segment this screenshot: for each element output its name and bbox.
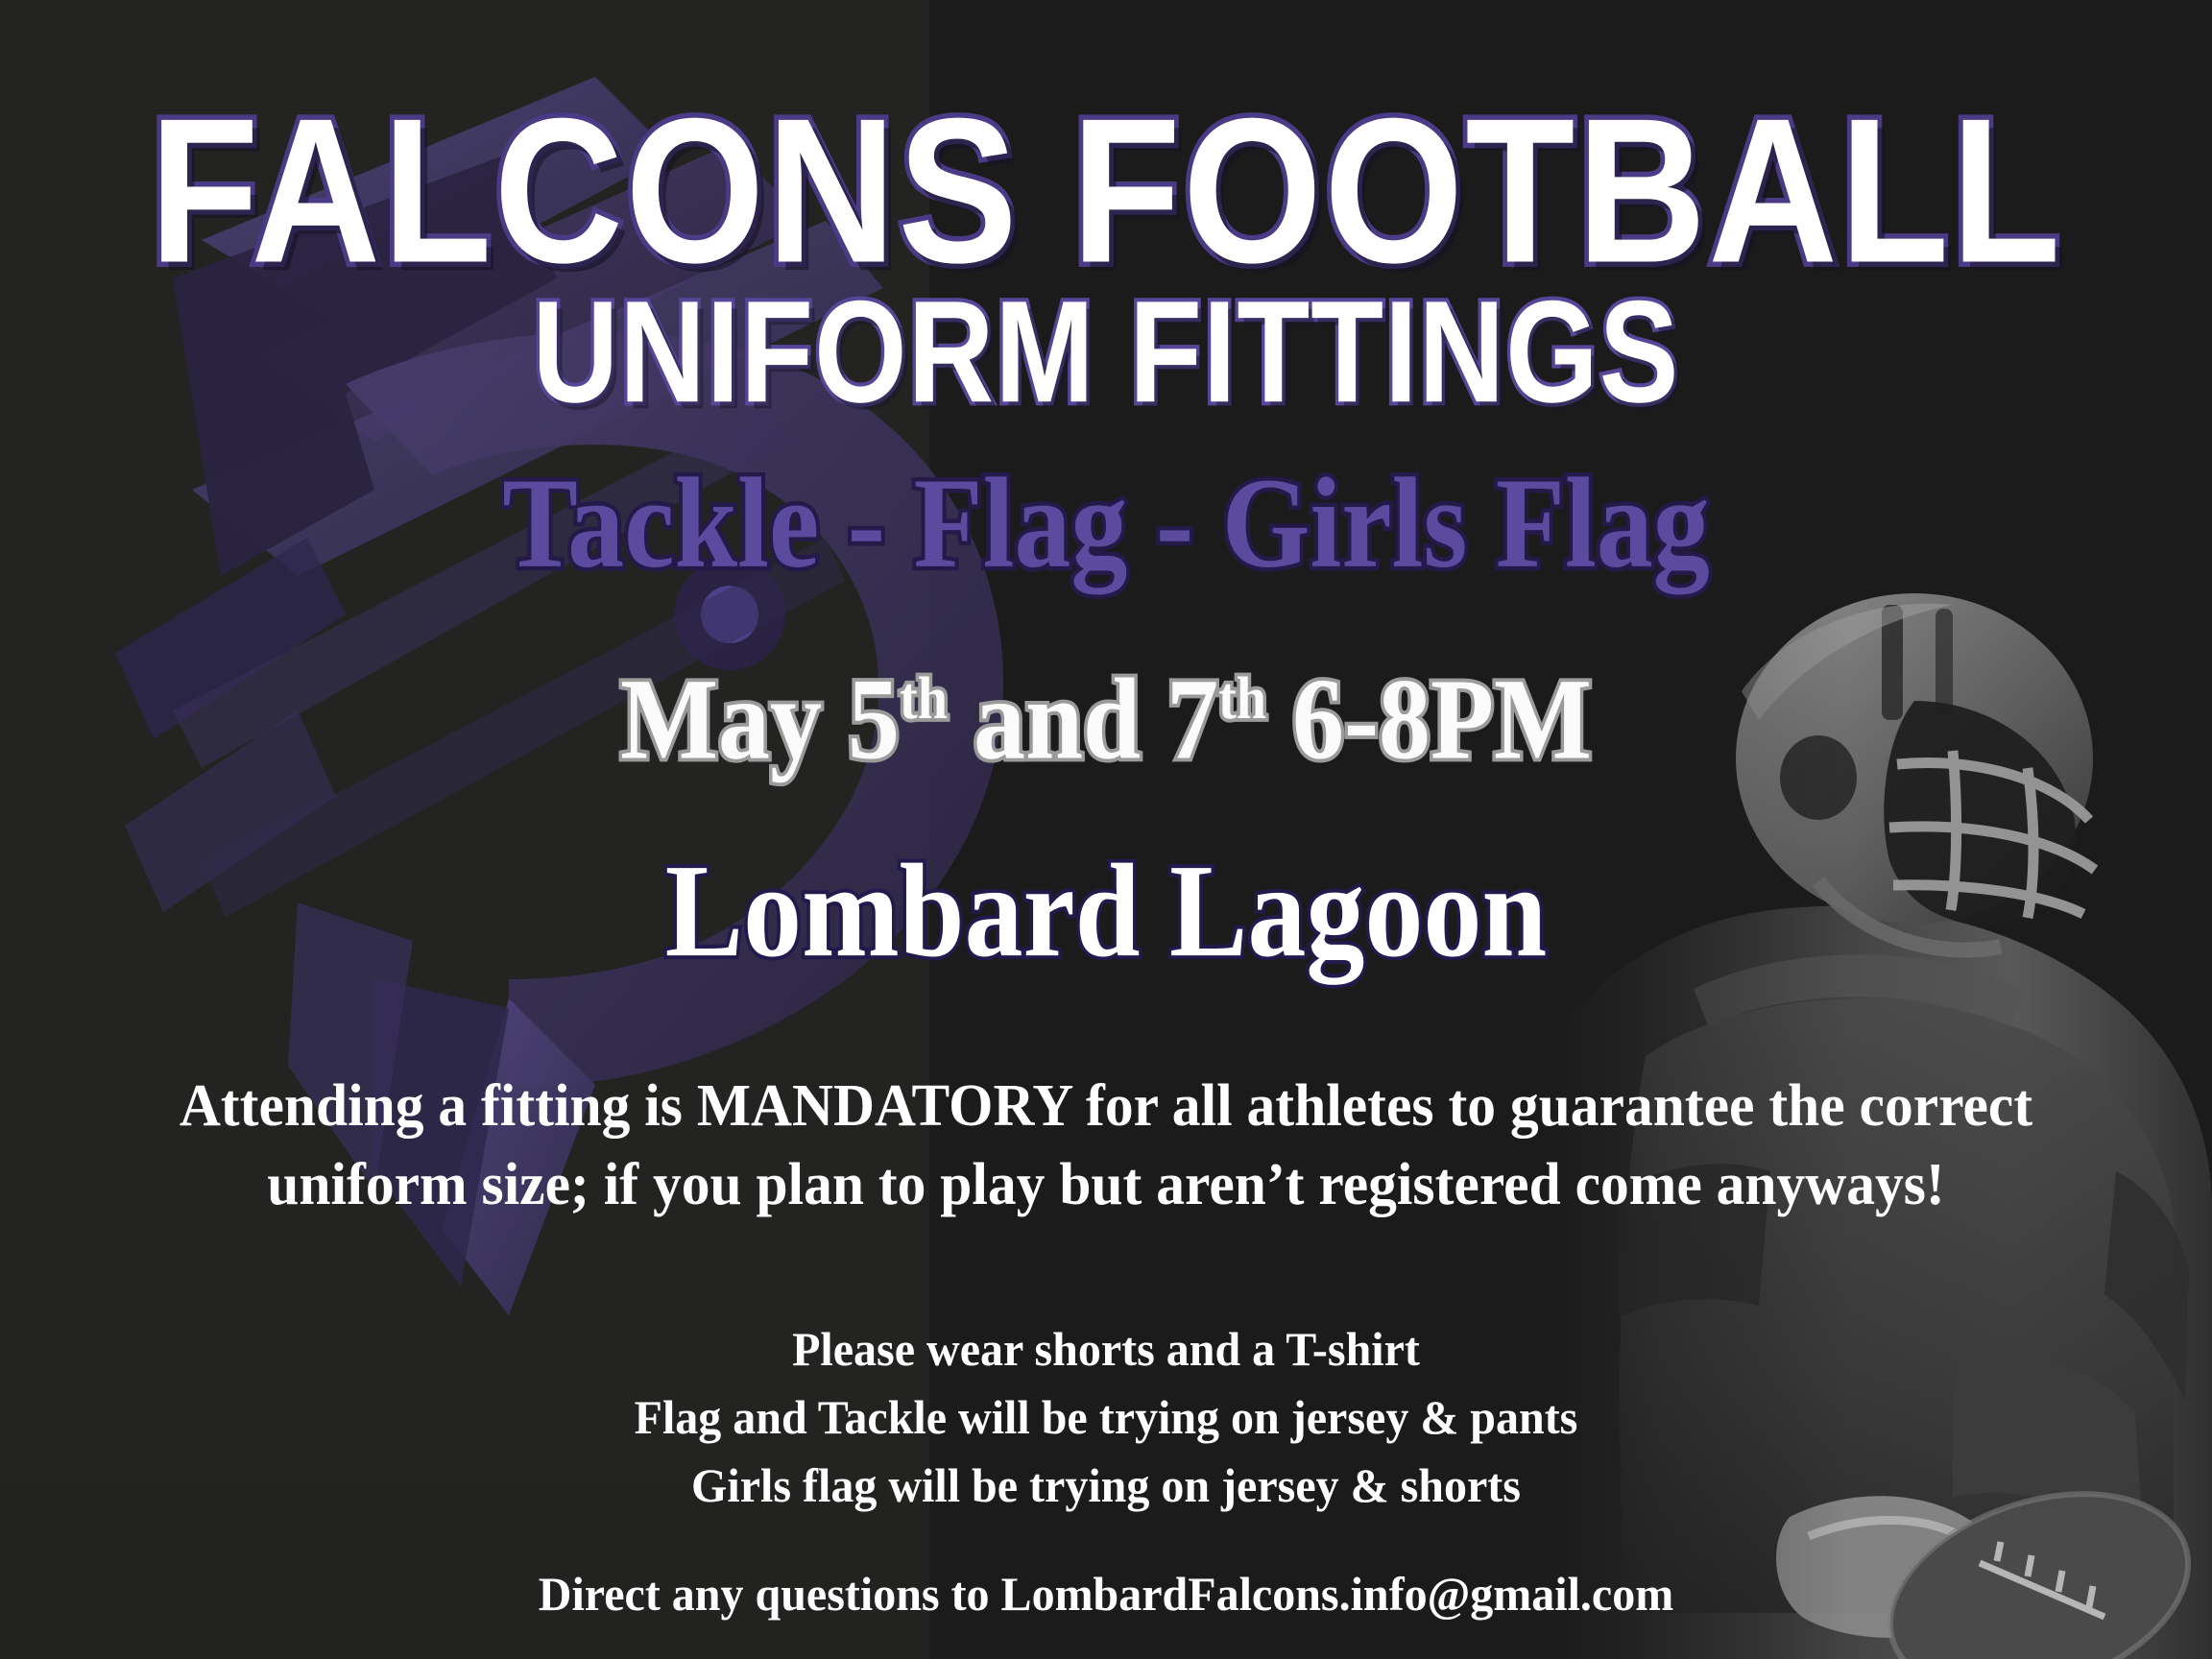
date-day-two: 7 [1166,656,1218,783]
event-time: 6-8PM [1292,656,1592,783]
date-day-one-suffix: th [900,665,948,732]
date-month: May [620,656,822,783]
divisions-subtitle: Tackle - Flag - Girls Flag [0,459,2212,589]
mandatory-notice-line: Attending a fitting is MANDATORY for all… [72,1068,2140,1146]
event-date-line: May 5th and 7th 6-8PM [0,662,2212,779]
date-day-one: 5 [848,656,900,783]
mandatory-notice-line: uniform size; if you plan to play but ar… [72,1146,2140,1225]
contact-email-line: Direct any questions to LombardFalcons.i… [44,1565,2168,1623]
flyer-text-content: FALCONS FOOTBALL UNIFORM FITTINGS Tackle… [0,0,2212,1659]
date-conjunction: and [974,656,1141,783]
flyer-poster: FALCONS FOOTBALL UNIFORM FITTINGS Tackle… [0,0,2212,1659]
instruction-line: Please wear shorts and a T-shirt [44,1315,2168,1383]
instructions-list: Please wear shorts and a T-shirt Flag an… [44,1315,2168,1520]
event-title: UNIFORM FITTINGS [34,280,2179,425]
venue-name: Lombard Lagoon [0,845,2212,978]
instruction-line: Girls flag will be trying on jersey & sh… [44,1452,2168,1520]
date-day-two-suffix: th [1218,665,1266,732]
page-title: FALCONS FOOTBALL [0,88,2212,295]
instruction-line: Flag and Tackle will be trying on jersey… [44,1383,2168,1452]
mandatory-notice: Attending a fitting is MANDATORY for all… [72,1068,2140,1225]
